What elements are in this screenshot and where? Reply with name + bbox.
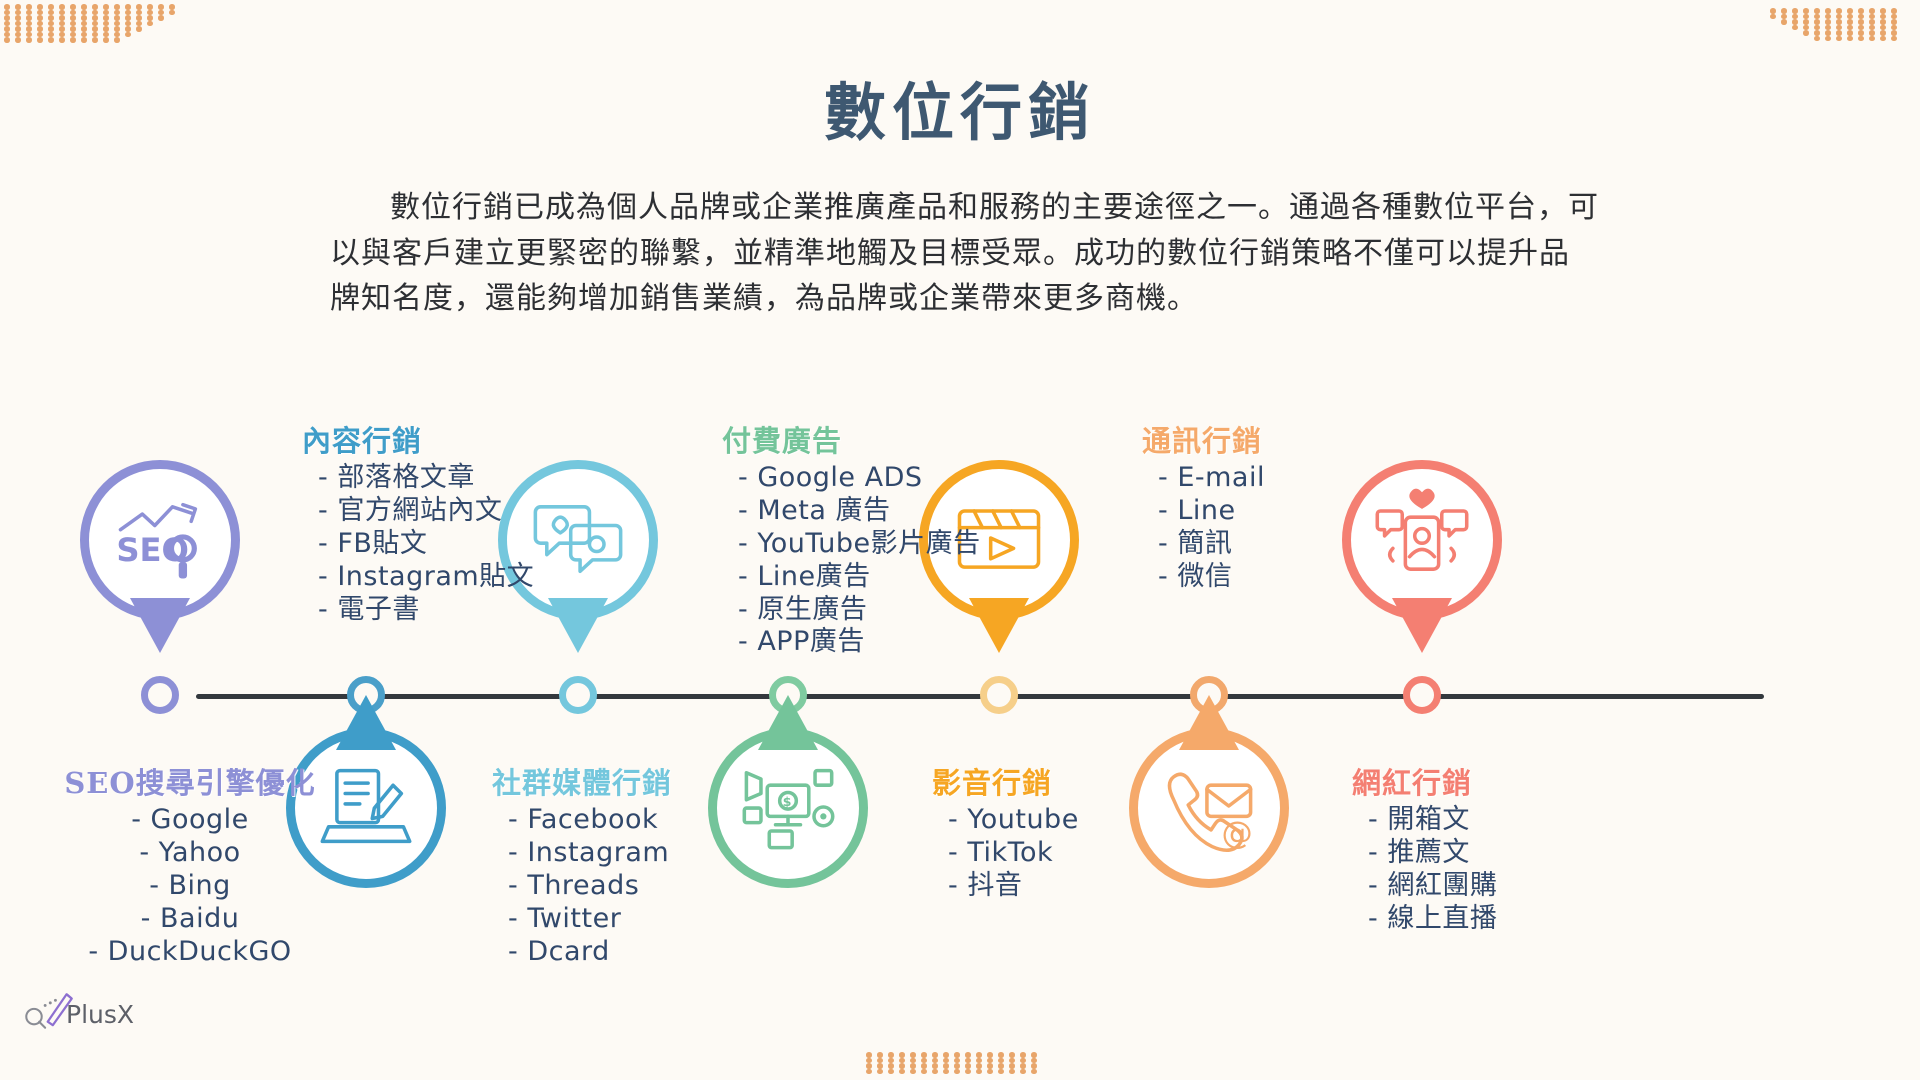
decor-dot <box>932 1069 938 1075</box>
list-item: - Yahoo <box>30 837 350 870</box>
mobile-live-stream-icon <box>1370 486 1474 590</box>
decor-dot <box>59 37 65 43</box>
decor-dot <box>1880 30 1886 36</box>
decor-dot <box>1009 1052 1015 1058</box>
decor-dot <box>899 1063 905 1069</box>
decor-dot <box>1880 8 1886 14</box>
decor-dot <box>1814 36 1820 42</box>
decor-dot <box>103 37 109 43</box>
decor-dot <box>4 15 10 21</box>
list-item: - Line <box>1158 495 1376 528</box>
decor-dot <box>976 1069 982 1075</box>
list-item: - FB貼文 <box>318 528 556 561</box>
decor-dot <box>866 1069 872 1075</box>
dot-pattern-top-right <box>1759 8 1902 41</box>
decor-dot <box>1031 1052 1037 1058</box>
decor-dot <box>1031 1063 1037 1069</box>
decor-dot <box>37 4 43 10</box>
decor-dot <box>1020 1052 1026 1058</box>
decor-dot <box>59 15 65 21</box>
pin-tip-seo <box>130 598 190 653</box>
decor-dot <box>15 26 21 32</box>
pin-tip-messaging <box>1179 695 1239 750</box>
decor-dot <box>81 37 87 43</box>
decor-dot <box>965 1052 971 1058</box>
list-item: - Line廣告 <box>738 561 1016 594</box>
decor-dot <box>954 1069 960 1075</box>
decor-dot <box>125 26 131 32</box>
timeline-node-video[interactable] <box>980 676 1018 714</box>
section-title-content: 內容行銷 <box>296 418 556 460</box>
decor-dot <box>888 1063 894 1069</box>
decor-dot <box>965 1069 971 1075</box>
list-item: - Google <box>30 804 350 837</box>
decor-dot <box>92 26 98 32</box>
list-item: - YouTube影片廣告 <box>738 528 1016 561</box>
decor-dot <box>136 15 142 21</box>
decor-dot <box>147 4 153 10</box>
decor-dot <box>1792 8 1798 14</box>
seo-growth-magnifier-icon: SEO <box>108 486 212 590</box>
decor-dot <box>877 1063 883 1069</box>
decor-dot <box>1803 8 1809 14</box>
decor-dot <box>976 1063 982 1069</box>
decor-dot <box>1869 30 1875 36</box>
timeline-node-influencer[interactable] <box>1403 676 1441 714</box>
decor-dot <box>888 1069 894 1075</box>
decor-dot <box>59 4 65 10</box>
decor-dot <box>15 15 21 21</box>
decor-dot <box>48 37 54 43</box>
decor-dot <box>1858 8 1864 14</box>
decor-dot <box>899 1069 905 1075</box>
decor-dot <box>866 1052 872 1058</box>
section-messaging: 通訊行銷- E-mail- Line- 簡訊- 微信 <box>1136 418 1376 594</box>
decor-dot <box>81 4 87 10</box>
decor-dot <box>48 26 54 32</box>
decor-dot <box>1869 19 1875 25</box>
decor-dot <box>954 1052 960 1058</box>
decor-dot <box>26 4 32 10</box>
decor-dot <box>932 1052 938 1058</box>
decor-dot <box>1009 1069 1015 1075</box>
decor-dot <box>998 1063 1004 1069</box>
decor-dot <box>37 15 43 21</box>
svg-text:@: @ <box>1221 815 1252 851</box>
decor-dot <box>158 4 164 10</box>
list-item: - 微信 <box>1158 561 1376 594</box>
decor-dot <box>48 15 54 21</box>
decor-dot <box>136 26 142 32</box>
decor-dot <box>910 1063 916 1069</box>
plusx-logo-text: PlusX <box>66 1000 134 1029</box>
decor-dot <box>103 4 109 10</box>
decor-dot <box>1009 1063 1015 1069</box>
decor-dot <box>158 15 164 21</box>
section-social: 社群媒體行銷- Facebook- Instagram- Threads- Tw… <box>486 760 766 968</box>
decor-dot <box>114 4 120 10</box>
list-item: - E-mail <box>1158 462 1376 495</box>
decor-dot <box>70 15 76 21</box>
decor-dot <box>1891 19 1897 25</box>
decor-dot <box>1836 36 1842 42</box>
section-title-paid-ads: 付費廣告 <box>716 418 1016 460</box>
section-content: 內容行銷- 部落格文章- 官方網站內文- FB貼文- Instagram貼文- … <box>296 418 556 626</box>
decor-dot <box>888 1052 894 1058</box>
decor-dot <box>125 15 131 21</box>
decor-dot <box>1847 30 1853 36</box>
decor-dot <box>48 4 54 10</box>
decor-dot <box>136 4 142 10</box>
decor-dot <box>1825 8 1831 14</box>
decor-dot <box>26 37 32 43</box>
decor-dot <box>81 15 87 21</box>
list-item: - Baidu <box>30 903 350 936</box>
decor-dot <box>1825 19 1831 25</box>
decor-dot <box>1020 1063 1026 1069</box>
list-item: - 原生廣告 <box>738 594 1016 627</box>
decor-dot <box>1814 19 1820 25</box>
decor-dot <box>114 26 120 32</box>
svg-text:$: $ <box>783 794 792 809</box>
decor-dot <box>954 1063 960 1069</box>
intro-paragraph: 數位行銷已成為個人品牌或企業推廣產品和服務的主要途徑之一。通過各種數位平台，可以… <box>330 185 1600 322</box>
list-item: - Meta 廣告 <box>738 495 1016 528</box>
decor-dot <box>125 4 131 10</box>
decor-dot <box>1781 19 1787 25</box>
pin-tip-content <box>336 695 396 750</box>
decor-dot <box>877 1069 883 1075</box>
pin-seo[interactable]: SEO <box>80 460 240 650</box>
infographic-canvas: 數位行銷 數位行銷已成為個人品牌或企業推廣產品和服務的主要途徑之一。通過各種數位… <box>0 0 1920 1080</box>
decor-dot <box>4 37 10 43</box>
decor-dot <box>1020 1069 1026 1075</box>
decor-dot <box>70 4 76 10</box>
decor-dot <box>921 1052 927 1058</box>
section-list-video: - Youtube- TikTok- 抖音 <box>926 804 1166 903</box>
decor-dot <box>1880 36 1886 42</box>
decor-dot <box>1891 8 1897 14</box>
phone-email-icon: @ <box>1157 754 1261 858</box>
decor-dot <box>1803 30 1809 36</box>
dot-pattern-top-left <box>4 4 191 43</box>
decor-dot <box>987 1052 993 1058</box>
plusx-logo: PlusX <box>22 982 152 1042</box>
list-item: - APP廣告 <box>738 626 1016 659</box>
list-item: - 網紅團購 <box>1368 870 1606 903</box>
decor-dot <box>1836 19 1842 25</box>
section-list-content: - 部落格文章- 官方網站內文- FB貼文- Instagram貼文- 電子書 <box>296 462 556 626</box>
decor-dot <box>1880 19 1886 25</box>
section-list-influencer: - 開箱文- 推薦文- 網紅團購- 線上直播 <box>1346 804 1606 936</box>
decor-dot <box>114 15 120 21</box>
decor-dot <box>943 1069 949 1075</box>
decor-dot <box>1869 8 1875 14</box>
timeline-node-social[interactable] <box>559 676 597 714</box>
list-item: - 官方網站內文 <box>318 495 556 528</box>
list-item: - 簡訊 <box>1158 528 1376 561</box>
decor-dot <box>147 15 153 21</box>
decor-dot <box>1803 19 1809 25</box>
decor-dot <box>910 1069 916 1075</box>
decor-dot <box>1814 30 1820 36</box>
list-item: - Youtube <box>948 804 1166 837</box>
list-item: - Google ADS <box>738 462 1016 495</box>
decor-dot <box>70 26 76 32</box>
decor-dot <box>998 1069 1004 1075</box>
decor-dot <box>1836 8 1842 14</box>
section-list-social: - Facebook- Instagram- Threads- Twitter-… <box>486 804 766 968</box>
list-item: - Twitter <box>508 903 766 936</box>
pin-tip-influencer <box>1392 598 1452 653</box>
decor-dot <box>37 26 43 32</box>
section-title-messaging: 通訊行銷 <box>1136 418 1376 460</box>
decor-dot <box>932 1063 938 1069</box>
decor-dot <box>114 37 120 43</box>
pin-tip-paid-ads <box>758 695 818 750</box>
list-item: - DuckDuckGO <box>30 936 350 969</box>
decor-dot <box>37 37 43 43</box>
dot-pattern-bottom <box>866 1052 1042 1074</box>
decor-dot <box>1814 8 1820 14</box>
list-item: - Dcard <box>508 936 766 969</box>
section-seo: SEO搜尋引擎優化- Google- Yahoo- Bing- Baidu- D… <box>30 760 350 968</box>
decor-dot <box>92 37 98 43</box>
decor-dot <box>26 15 32 21</box>
decor-dot <box>1781 8 1787 14</box>
intro-text: 數位行銷已成為個人品牌或企業推廣產品和服務的主要途徑之一。通過各種數位平台，可以… <box>330 185 1600 322</box>
decor-dot <box>1825 36 1831 42</box>
decor-dot <box>1792 19 1798 25</box>
decor-dot <box>1031 1069 1037 1075</box>
decor-dot <box>92 4 98 10</box>
list-item: - 抖音 <box>948 870 1166 903</box>
list-item: - Facebook <box>508 804 766 837</box>
list-item: - TikTok <box>948 837 1166 870</box>
decor-dot <box>103 15 109 21</box>
decor-dot <box>169 4 175 10</box>
section-list-messaging: - E-mail- Line- 簡訊- 微信 <box>1136 462 1376 594</box>
decor-dot <box>866 1063 872 1069</box>
decor-dot <box>1847 8 1853 14</box>
section-title-influencer: 網紅行銷 <box>1346 760 1606 802</box>
list-item: - 開箱文 <box>1368 804 1606 837</box>
decor-dot <box>910 1052 916 1058</box>
decor-dot <box>998 1052 1004 1058</box>
decor-dot <box>899 1052 905 1058</box>
page-title: 數位行銷 <box>0 62 1920 152</box>
section-title-seo: SEO搜尋引擎優化 <box>30 760 350 802</box>
decor-dot <box>70 37 76 43</box>
section-paid-ads: 付費廣告- Google ADS- Meta 廣告- YouTube影片廣告- … <box>716 418 1016 659</box>
decor-dot <box>59 26 65 32</box>
section-title-social: 社群媒體行銷 <box>486 760 766 802</box>
decor-dot <box>15 4 21 10</box>
section-video: 影音行銷- Youtube- TikTok- 抖音 <box>926 760 1166 903</box>
list-item: - Instagram <box>508 837 766 870</box>
decor-dot <box>943 1063 949 1069</box>
decor-dot <box>81 26 87 32</box>
section-influencer: 網紅行銷- 開箱文- 推薦文- 網紅團購- 線上直播 <box>1346 760 1606 936</box>
decor-dot <box>15 37 21 43</box>
decor-dot <box>1858 36 1864 42</box>
decor-dot <box>1847 19 1853 25</box>
decor-dot <box>1825 30 1831 36</box>
decor-dot <box>877 1052 883 1058</box>
decor-dot <box>965 1063 971 1069</box>
decor-dot <box>1891 36 1897 42</box>
list-item: - 線上直播 <box>1368 903 1606 936</box>
list-item: - 電子書 <box>318 594 556 627</box>
list-item: - Bing <box>30 870 350 903</box>
pin-tip-social <box>548 598 608 653</box>
decor-dot <box>1891 30 1897 36</box>
decor-dot <box>1836 30 1842 36</box>
list-item: - Instagram貼文 <box>318 561 556 594</box>
decor-dot <box>103 26 109 32</box>
decor-dot <box>976 1052 982 1058</box>
decor-dot <box>4 26 10 32</box>
decor-dot <box>26 26 32 32</box>
decor-dot <box>4 4 10 10</box>
list-item: - 部落格文章 <box>318 462 556 495</box>
decor-dot <box>987 1063 993 1069</box>
decor-dot <box>921 1063 927 1069</box>
timeline-node-seo[interactable] <box>141 676 179 714</box>
decor-dot <box>1770 8 1776 14</box>
decor-dot <box>1869 36 1875 42</box>
list-item: - 推薦文 <box>1368 837 1606 870</box>
decor-dot <box>1858 19 1864 25</box>
decor-dot <box>921 1069 927 1075</box>
decor-dot <box>1858 30 1864 36</box>
decor-dot <box>92 15 98 21</box>
section-list-paid-ads: - Google ADS- Meta 廣告- YouTube影片廣告- Line… <box>716 462 1016 659</box>
section-title-video: 影音行銷 <box>926 760 1166 802</box>
section-list-seo: - Google- Yahoo- Bing- Baidu- DuckDuckGO <box>30 804 350 968</box>
decor-dot <box>987 1069 993 1075</box>
decor-dot <box>1847 36 1853 42</box>
list-item: - Threads <box>508 870 766 903</box>
decor-dot <box>943 1052 949 1058</box>
